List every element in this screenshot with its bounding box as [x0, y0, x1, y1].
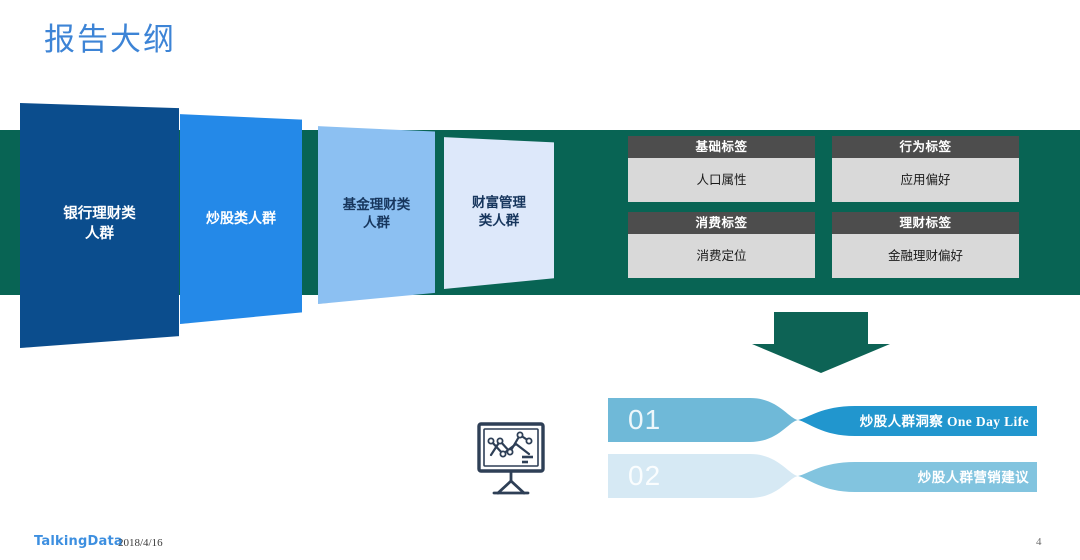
slide-canvas: 报告大纲 银行理财类 人群 炒股类人群 基金理财类 人群 财富管理 类人群 基础…	[0, 0, 1080, 560]
tag-card-finance-body: 金融理财偏好	[832, 234, 1019, 278]
agenda-ribbon-01-shape	[600, 396, 1045, 444]
talkingdata-logo: TalkingData	[34, 534, 123, 549]
tag-card-behavior-body: 应用偏好	[832, 158, 1019, 202]
tag-card-behavior-header: 行为标签	[832, 136, 1019, 158]
tag-card-behavior[interactable]: 行为标签 应用偏好	[832, 136, 1019, 202]
footer-date: 2018/4/16	[118, 537, 163, 549]
tag-card-finance-header: 理财标签	[832, 212, 1019, 234]
down-arrow-icon	[752, 312, 890, 373]
tag-card-finance[interactable]: 理财标签 金融理财偏好	[832, 212, 1019, 278]
agenda-ribbon-02-shape	[600, 452, 1045, 500]
funnel-panel-1-label: 银行理财类 人群	[63, 205, 136, 244]
tag-card-consumption-header: 消费标签	[628, 212, 815, 234]
funnel-panel-4-label: 财富管理 类人群	[472, 194, 526, 230]
funnel-panel-3-label: 基金理财类 人群	[343, 196, 411, 232]
tag-card-basic-body: 人口属性	[628, 158, 815, 202]
funnel-panel-2-label: 炒股类人群	[206, 209, 276, 228]
agenda-item-02[interactable]: 02 炒股人群营销建议	[600, 452, 1045, 500]
page-number: 4	[1036, 536, 1042, 548]
tag-card-basic[interactable]: 基础标签 人口属性	[628, 136, 815, 202]
funnel-panel-4[interactable]: 财富管理 类人群	[444, 135, 554, 289]
presentation-chart-icon	[476, 421, 546, 499]
funnel-panel-3[interactable]: 基金理财类 人群	[318, 124, 435, 304]
tag-card-consumption[interactable]: 消费标签 消费定位	[628, 212, 815, 278]
tag-card-consumption-body: 消费定位	[628, 234, 815, 278]
tag-card-basic-header: 基础标签	[628, 136, 815, 158]
funnel-panel-1[interactable]: 银行理财类 人群	[20, 101, 179, 348]
funnel-panel-2[interactable]: 炒股类人群	[180, 112, 302, 324]
agenda-item-01[interactable]: 01 炒股人群洞察 One Day Life	[600, 396, 1045, 444]
